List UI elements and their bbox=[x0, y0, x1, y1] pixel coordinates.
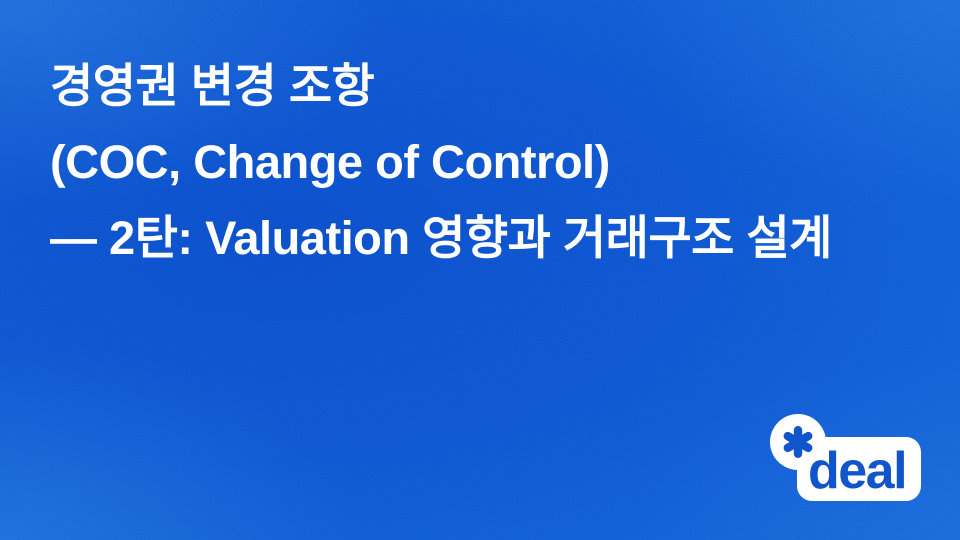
title-line-2: (COC, Change of Control) bbox=[50, 124, 950, 200]
page-title: 경영권 변경 조항 (COC, Change of Control) — 2탄:… bbox=[50, 48, 950, 276]
logo-wordmark: deal bbox=[808, 442, 906, 500]
title-line-3: — 2탄: Valuation 영향과 거래구조 설계 bbox=[50, 200, 950, 276]
title-line-1: 경영권 변경 조항 bbox=[50, 48, 950, 124]
slide-canvas: 경영권 변경 조항 (COC, Change of Control) — 2탄:… bbox=[0, 0, 960, 540]
deal-logo[interactable]: deal bbox=[766, 410, 926, 506]
